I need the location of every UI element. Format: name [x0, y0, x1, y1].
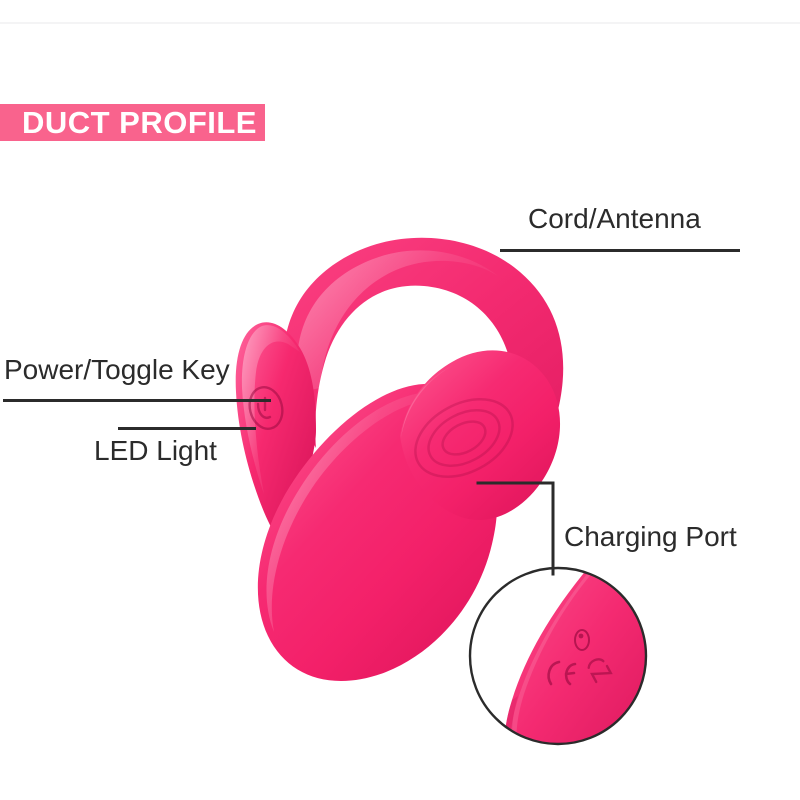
callout-label-cord-antenna: Cord/Antenna: [528, 205, 701, 233]
led-light-leader-line: [118, 427, 256, 430]
callout-label-power-toggle-key: Power/Toggle Key: [4, 356, 230, 384]
section-banner-title: DUCT PROFILE: [22, 107, 257, 138]
cord-antenna-leader-line: [500, 249, 740, 252]
product-profile-page: DUCT PROFILE Cord/Antenna Power/Toggle K…: [0, 0, 800, 800]
callout-label-charging-port: Charging Port: [564, 523, 737, 551]
callout-label-led-light: LED Light: [94, 437, 217, 465]
power-toggle-key-leader-line: [3, 399, 271, 402]
charging-port-magnifier: [470, 549, 665, 786]
section-banner: DUCT PROFILE: [0, 104, 265, 141]
